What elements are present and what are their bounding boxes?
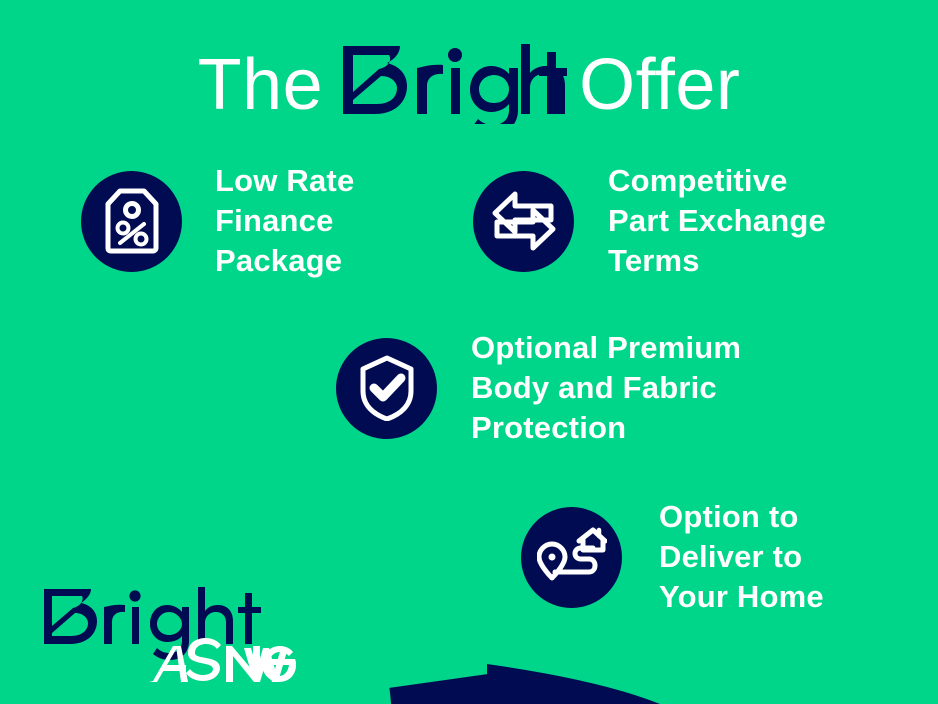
feature-label: Option to Deliver to Your Home — [659, 497, 824, 617]
map-pin-route-home-icon — [537, 526, 607, 588]
brand-logo — [40, 586, 300, 684]
offer-poster: The Offer — [0, 0, 938, 704]
shield-check-icon — [358, 355, 416, 421]
feature-part-exchange: Competitive Part Exchange Terms — [473, 161, 826, 281]
feature-label: Low Rate Finance Package — [215, 161, 354, 281]
feature-home-delivery: Option to Deliver to Your Home — [521, 497, 824, 617]
feature-low-rate-finance: Low Rate Finance Package — [81, 161, 354, 281]
price-tag-percent-badge — [81, 171, 182, 272]
logo-asnew-wordmark — [149, 638, 296, 682]
feature-label: Competitive Part Exchange Terms — [608, 161, 826, 281]
shield-check-badge — [336, 338, 437, 439]
page-title: The Offer — [0, 42, 938, 128]
title-word-after: Offer — [579, 45, 740, 125]
exchange-arrows-icon — [491, 190, 557, 252]
price-tag-percent-icon — [103, 188, 161, 254]
title-word-before: The — [198, 45, 324, 125]
feature-label: Optional Premium Body and Fabric Protect… — [471, 328, 741, 448]
bright-wordmark — [337, 42, 569, 128]
feature-body-fabric-protection: Optional Premium Body and Fabric Protect… — [336, 328, 741, 448]
exchange-arrows-badge — [473, 171, 574, 272]
map-pin-route-home-badge — [521, 507, 622, 608]
